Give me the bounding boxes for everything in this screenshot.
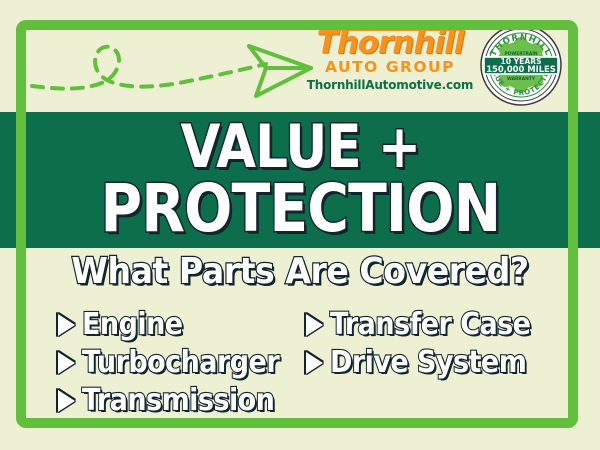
dashed-loop-arrow-icon [24,24,314,108]
list-item: Turbocharger [58,344,306,382]
covered-parts-lists: Engine Turbocharger Transmission Transfe… [58,306,544,420]
list-item: Engine [58,306,306,344]
logo-subtitle: AUTO GROUP [305,58,475,76]
logo-name: Thornhill [305,27,475,59]
headline: VALUE + PROTECTION [0,113,600,247]
seal-miles-text: 150,000 MILES [486,64,556,74]
covered-parts-column-left: Engine Turbocharger Transmission [58,306,306,420]
covered-parts-column-right: Transfer Case Drive System [306,306,544,420]
list-item: Drive System [306,344,544,382]
triangle-bullet-icon [306,314,323,336]
triangle-bullet-icon [58,352,75,374]
seal-warranty-text: WARRANTY [507,76,536,82]
headline-line-1: VALUE + [180,119,420,176]
paper-plane-arrow-icon [249,46,311,96]
triangle-bullet-icon [58,390,75,412]
promo-poster: Thornhill AUTO GROUP ThornhillAutomotive… [0,0,600,450]
list-item-label: Turbocharger [82,344,279,382]
headline-line-2: PROTECTION [100,178,500,241]
list-item: Transfer Case [306,306,544,344]
triangle-bullet-icon [306,352,323,374]
list-item-label: Transfer Case [330,306,530,344]
list-item: Transmission [58,382,306,420]
thornhill-logo: Thornhill AUTO GROUP ThornhillAutomotive… [305,24,475,93]
list-item-label: Transmission [82,382,274,420]
warranty-seal-badge: THORNHILL VALUE + PROTECTION POWERTRAIN … [480,24,562,106]
triangle-bullet-icon [58,314,75,336]
logo-website-url: ThornhillAutomotive.com [305,78,475,93]
list-item-label: Engine [82,306,183,344]
list-item-label: Drive System [330,344,526,382]
poster-header: Thornhill AUTO GROUP ThornhillAutomotive… [0,0,600,112]
coverage-question: What Parts Are Covered? [24,252,576,292]
